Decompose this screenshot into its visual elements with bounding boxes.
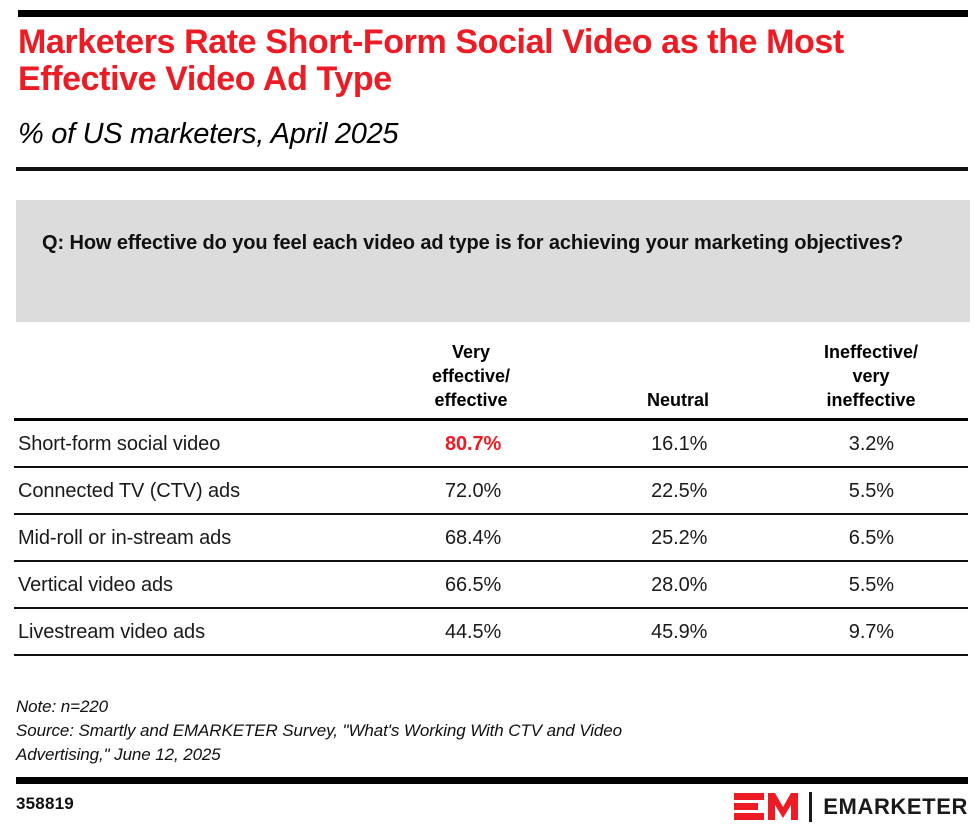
row-value-very-effective: 72.0% <box>363 479 584 503</box>
row-value-very-effective: 68.4% <box>363 526 584 550</box>
emarketer-logo: EMARKETER <box>734 790 968 824</box>
logo-wordmark: EMARKETER <box>823 794 968 820</box>
chart-page: Marketers Rate Short-Form Social Video a… <box>0 0 980 835</box>
row-label: Livestream video ads <box>14 620 363 644</box>
column-header-very-effective-line3: effective <box>360 388 582 412</box>
column-header-ineffective-line3: ineffective <box>774 388 968 412</box>
row-value-neutral: 25.2% <box>584 526 775 550</box>
note-source-line1: Source: Smartly and EMARKETER Survey, "W… <box>16 719 916 743</box>
table-bottom-divider <box>14 654 968 656</box>
row-label: Mid-roll or in-stream ads <box>14 526 363 550</box>
row-label: Vertical video ads <box>14 573 363 597</box>
row-value-neutral: 28.0% <box>584 573 775 597</box>
row-value-neutral: 45.9% <box>584 620 775 644</box>
table-row: Mid-roll or in-stream ads 68.4% 25.2% 6.… <box>14 515 968 560</box>
bottom-rule <box>16 777 968 784</box>
column-header-very-effective: Very effective/ effective <box>360 340 582 412</box>
row-value-ineffective: 9.7% <box>775 620 968 644</box>
row-value-neutral: 22.5% <box>584 479 775 503</box>
row-value-ineffective: 6.5% <box>775 526 968 550</box>
row-value-very-effective: 80.7% <box>363 432 584 456</box>
column-header-neutral: Neutral <box>582 388 774 412</box>
row-value-very-effective: 66.5% <box>363 573 584 597</box>
column-header-ineffective: Ineffective/ very ineffective <box>774 340 968 412</box>
table-row: Connected TV (CTV) ads 72.0% 22.5% 5.5% <box>14 468 968 513</box>
page-subtitle: % of US marketers, April 2025 <box>18 118 948 151</box>
column-header-very-effective-line1: Very <box>360 340 582 364</box>
question-box: Q: How effective do you feel each video … <box>16 200 970 322</box>
row-value-ineffective: 3.2% <box>775 432 968 456</box>
column-header-ineffective-line1: Ineffective/ <box>774 340 968 364</box>
row-value-neutral: 16.1% <box>584 432 775 456</box>
column-header-ineffective-line2: very <box>774 364 968 388</box>
row-value-ineffective: 5.5% <box>775 479 968 503</box>
page-title: Marketers Rate Short-Form Social Video a… <box>18 24 948 98</box>
row-label: Connected TV (CTV) ads <box>14 479 363 503</box>
note-source-line2: Advertising," June 12, 2025 <box>16 743 916 767</box>
column-header-very-effective-line2: effective/ <box>360 364 582 388</box>
logo-divider <box>809 792 812 822</box>
table-row: Short-form social video 80.7% 16.1% 3.2% <box>14 421 968 466</box>
row-value-very-effective: 44.5% <box>363 620 584 644</box>
question-text: Q: How effective do you feel each video … <box>42 230 922 257</box>
chart-id: 358819 <box>16 794 74 814</box>
note-sample-size: Note: n=220 <box>16 695 916 719</box>
table-row: Vertical video ads 66.5% 28.0% 5.5% <box>14 562 968 607</box>
table-header-row: Very effective/ effective Neutral Ineffe… <box>14 340 968 418</box>
header-divider <box>16 167 968 171</box>
top-rule <box>18 10 968 17</box>
row-value-ineffective: 5.5% <box>775 573 968 597</box>
row-label: Short-form social video <box>14 432 363 456</box>
em-monogram-icon <box>734 791 800 823</box>
notes-block: Note: n=220 Source: Smartly and EMARKETE… <box>16 695 916 767</box>
data-table: Very effective/ effective Neutral Ineffe… <box>14 340 968 656</box>
table-row: Livestream video ads 44.5% 45.9% 9.7% <box>14 609 968 654</box>
